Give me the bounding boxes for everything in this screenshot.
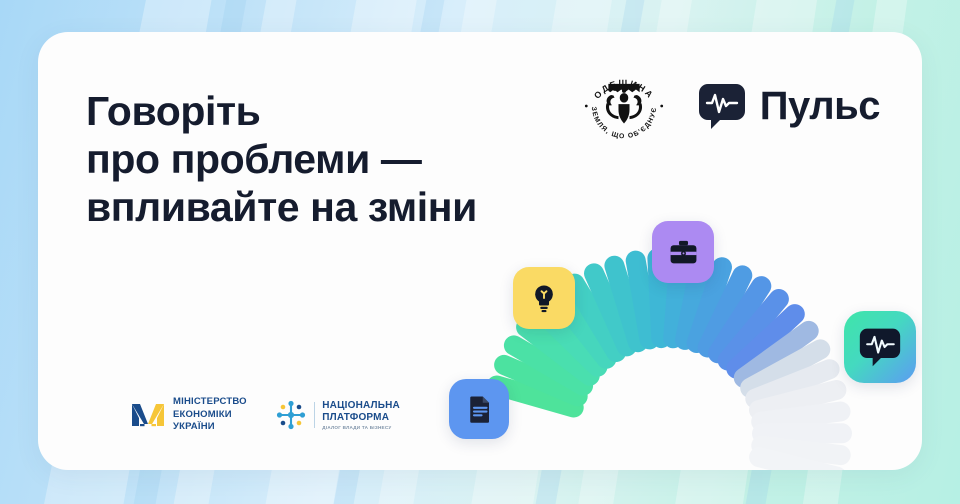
idea-tile[interactable] <box>513 267 575 329</box>
np-line-1: НАЦІОНАЛЬНА <box>322 400 400 412</box>
briefcase-icon <box>668 237 699 268</box>
pulse-tile[interactable] <box>844 311 916 383</box>
headline-line-2: про проблеми — <box>86 136 422 182</box>
hero-card: Говоріть про проблеми — впливайте на змі… <box>38 32 922 470</box>
emblem-crest <box>606 84 642 124</box>
lightbulb-icon <box>529 283 559 313</box>
headline-line-1: Говоріть <box>86 88 260 134</box>
pulse-speech-bubble-icon <box>858 325 902 369</box>
ministry-logo-text: МІНІСТЕРСТВО ЕКОНОМІКИ УКРАЇНИ <box>173 396 247 434</box>
arc-bar <box>761 412 840 422</box>
document-icon <box>464 394 494 424</box>
pulse-speech-bubble-icon <box>698 82 746 130</box>
national-platform-logo: НАЦІОНАЛЬНА ПЛАТФОРМА ДІАЛОГ ВЛАДИ ТА БІ… <box>275 399 400 431</box>
document-tile[interactable] <box>449 379 509 439</box>
pulse-logo-lockup: Пульс <box>698 82 880 130</box>
np-line-3: ДІАЛОГ ВЛАДИ ТА БІЗНЕСУ <box>322 425 400 431</box>
ministry-line-2: ЕКОНОМІКИ <box>173 409 247 422</box>
business-tile[interactable] <box>652 221 714 283</box>
arc-bar <box>636 261 650 340</box>
partner-logos: МІНІСТЕРСТВО ЕКОНОМІКИ УКРАЇНИ <box>130 396 400 434</box>
ministry-of-economy-logo: МІНІСТЕРСТВО ЕКОНОМІКИ УКРАЇНИ <box>130 396 247 434</box>
logo-divider <box>314 402 316 428</box>
ministry-line-3: УКРАЇНИ <box>173 421 247 434</box>
brand-cluster: ОДЕЩИНА ЗЕМЛЯ, ЩО ОБ'ЄДНУЄ <box>578 60 880 152</box>
national-platform-logo-text: НАЦІОНАЛЬНА ПЛАТФОРМА ДІАЛОГ ВЛАДИ ТА БІ… <box>322 400 400 431</box>
np-line-2: ПЛАТФОРМА <box>322 412 400 424</box>
pulse-wordmark: Пульс <box>760 84 880 129</box>
odeshchyna-emblem: ОДЕЩИНА ЗЕМЛЯ, ЩО ОБ'ЄДНУЄ <box>578 60 670 152</box>
ministry-mark-icon <box>130 400 166 430</box>
national-platform-mark-icon <box>275 399 307 431</box>
ministry-line-1: МІНІСТЕРСТВО <box>173 396 247 409</box>
